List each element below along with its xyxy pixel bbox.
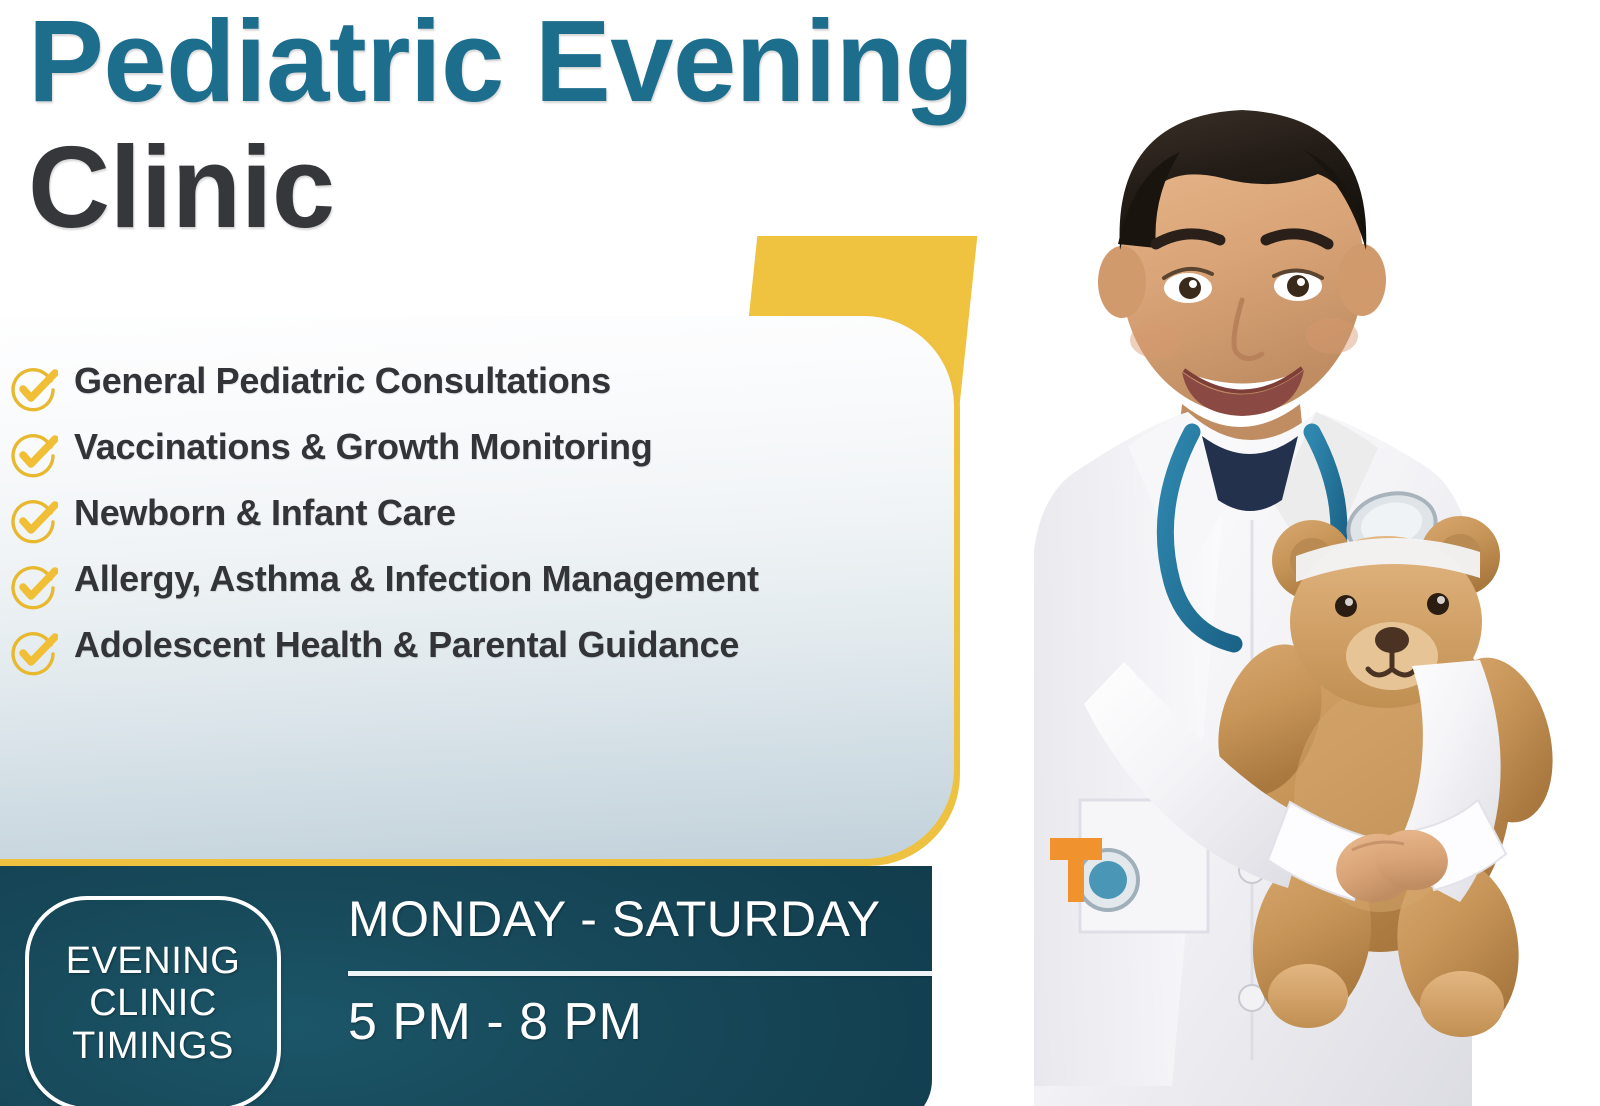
timings-divider [348, 971, 932, 976]
list-item-label: Newborn & Infant Care [74, 492, 456, 534]
badge-line-1: EVENING [66, 940, 241, 983]
check-circle-icon [10, 430, 58, 478]
poster-canvas: Pediatric Evening Clinic General Pediatr… [0, 0, 1600, 1106]
list-item: Adolescent Health & Parental Guidance [10, 624, 890, 676]
title-line-1: Pediatric Evening [28, 6, 1086, 116]
list-item-label: Allergy, Asthma & Infection Management [74, 558, 759, 600]
clinic-days: MONDAY - SATURDAY [348, 890, 908, 949]
list-item: Vaccinations & Growth Monitoring [10, 426, 890, 478]
evening-clinic-timings-badge: EVENING CLINIC TIMINGS [25, 896, 281, 1106]
clinic-timings-panel: EVENING CLINIC TIMINGS MONDAY - SATURDAY… [0, 866, 932, 1106]
services-card-wrapper: General Pediatric Consultations Vaccinat… [0, 316, 960, 866]
list-item-label: General Pediatric Consultations [74, 360, 611, 402]
list-item-label: Adolescent Health & Parental Guidance [74, 624, 739, 666]
list-item: Allergy, Asthma & Infection Management [10, 558, 890, 610]
check-circle-icon [10, 628, 58, 676]
list-item-label: Vaccinations & Growth Monitoring [74, 426, 652, 468]
title-line-2: Clinic [28, 132, 1086, 242]
clinic-hours: 5 PM - 8 PM [348, 992, 908, 1053]
timings-detail: MONDAY - SATURDAY 5 PM - 8 PM [348, 890, 908, 1053]
badge-line-2: CLINIC [89, 982, 217, 1025]
services-list: General Pediatric Consultations Vaccinat… [10, 360, 890, 676]
check-circle-icon [10, 496, 58, 544]
page-title: Pediatric Evening Clinic [28, 6, 1108, 242]
services-card: General Pediatric Consultations Vaccinat… [0, 316, 954, 859]
check-circle-icon [10, 364, 58, 412]
list-item: Newborn & Infant Care [10, 492, 890, 544]
badge-line-3: TIMINGS [72, 1025, 234, 1068]
check-circle-icon [10, 562, 58, 610]
list-item: General Pediatric Consultations [10, 360, 890, 412]
